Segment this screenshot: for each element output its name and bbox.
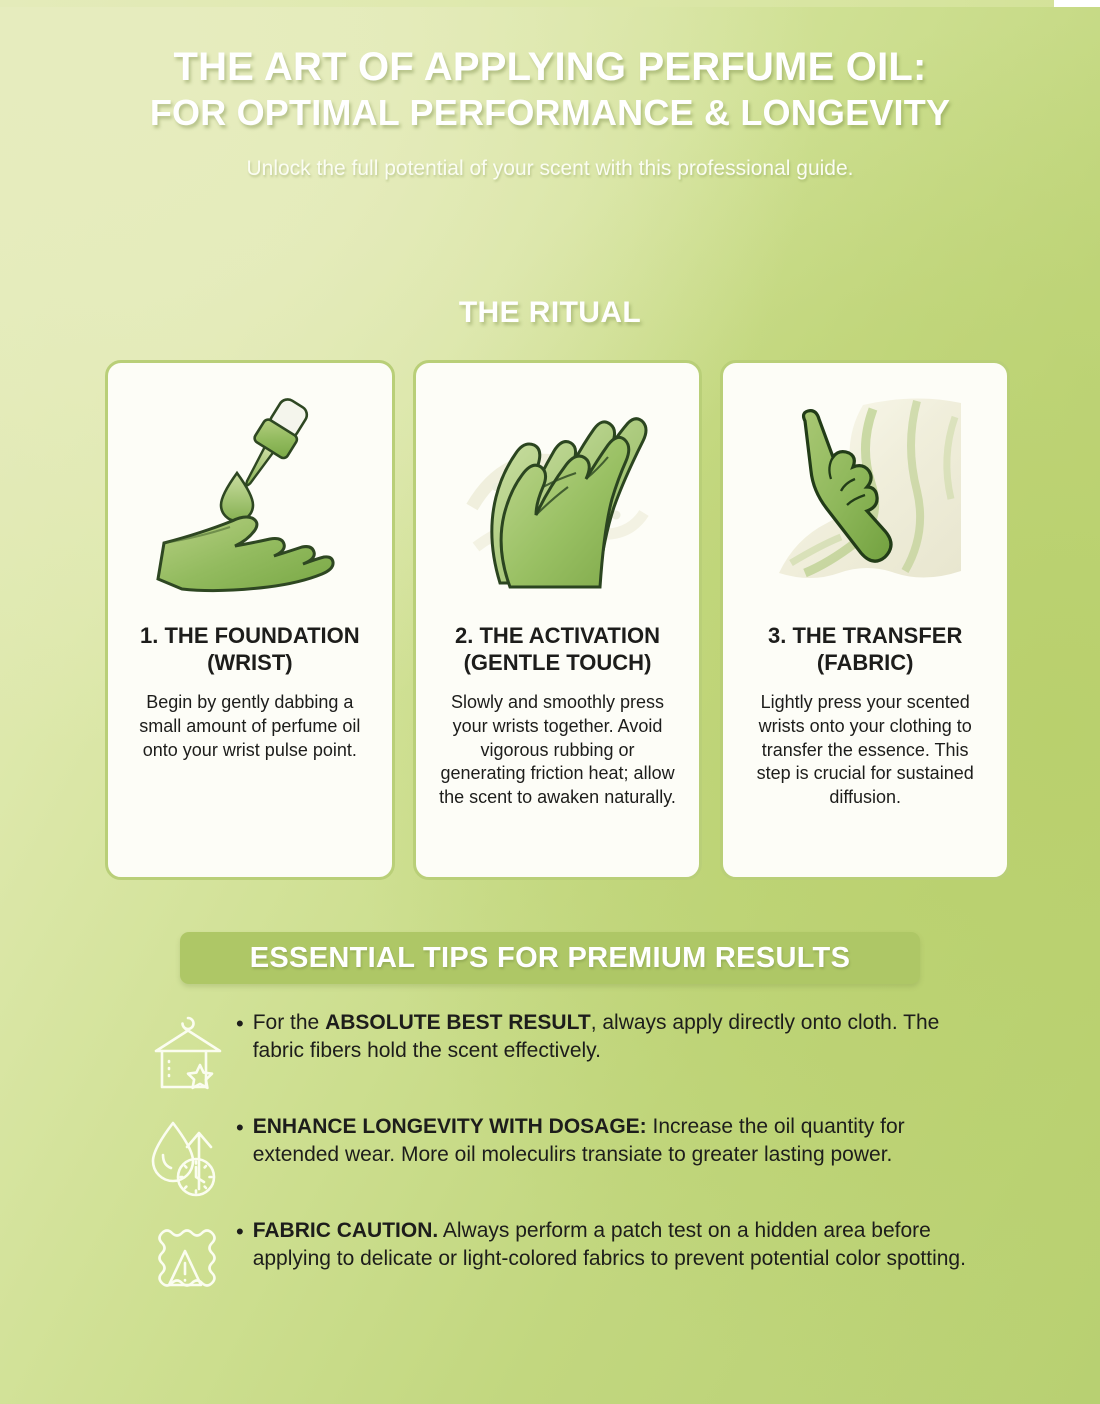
ritual-card-body: Lightly press your scented wrists onto y… [737,691,993,811]
ritual-card-title: 3. THE TRANSFER (FABRIC) [768,623,962,677]
tip-text-wrap: • ENHANCE LONGEVITY WITH DOSAGE: Increas… [236,1109,990,1169]
top-strip-notch [1054,0,1100,7]
page-subtitle: Unlock the full potential of your scent … [0,157,1100,181]
ritual-card-body: Begin by gently dabbing a small amount o… [122,691,378,763]
tips-banner: ESSENTIAL TIPS FOR PREMIUM RESULTS [180,932,920,984]
tip-item: • FABRIC CAUTION. Always perform a patch… [140,1213,990,1317]
infographic-page: THE ART OF APPLYING PERFUME OIL: FOR OPT… [0,0,1100,1404]
tip-text-wrap: • FABRIC CAUTION. Always perform a patch… [236,1213,990,1273]
tip-text-wrap: • For the ABSOLUTE BEST RESULT, always a… [236,1005,990,1065]
page-title-line1: THE ART OF APPLYING PERFUME OIL: [0,46,1100,88]
pressed-hands-icon [430,377,686,607]
tip-copy: ENHANCE LONGEVITY WITH DOSAGE: Increase … [253,1113,990,1169]
ritual-card-foundation: 1. THE FOUNDATION (WRIST) Begin by gentl… [105,360,395,880]
tip-bullet: • [236,1217,244,1246]
tip-strong: FABRIC CAUTION. [253,1219,439,1242]
tip-item: • For the ABSOLUTE BEST RESULT, always a… [140,1005,990,1109]
ritual-card-title: 1. THE FOUNDATION (WRIST) [140,623,360,677]
ritual-card-activation: 2. THE ACTIVATION (GENTLE TOUCH) Slowly … [413,360,703,880]
droplet-arrow-clock-icon [140,1109,236,1199]
top-strip [0,0,1100,7]
tip-lead: For the [253,1011,325,1034]
fabric-warning-icon [140,1213,236,1303]
ritual-section-heading: THE RITUAL [0,296,1100,330]
hand-fabric-icon [737,377,993,607]
ritual-card-transfer: 3. THE TRANSFER (FABRIC) Lightly press y… [720,360,1010,880]
tip-copy: FABRIC CAUTION. Always perform a patch t… [253,1217,990,1273]
tip-strong: ABSOLUTE BEST RESULT [325,1011,591,1034]
ritual-card-title: 2. THE ACTIVATION (GENTLE TOUCH) [455,623,660,677]
tip-copy: For the ABSOLUTE BEST RESULT, always app… [253,1009,990,1065]
tip-bullet: • [236,1009,244,1038]
header: THE ART OF APPLYING PERFUME OIL: FOR OPT… [0,46,1100,181]
page-title-line2: FOR OPTIMAL PERFORMANCE & LONGEVITY [0,94,1100,132]
tip-bullet: • [236,1113,244,1142]
ritual-card-list: 1. THE FOUNDATION (WRIST) Begin by gentl… [105,360,1010,880]
hanger-cloth-star-icon [140,1005,236,1095]
tips-list: • For the ABSOLUTE BEST RESULT, always a… [140,1005,990,1317]
dropper-hand-icon [122,377,378,607]
tips-banner-label: ESSENTIAL TIPS FOR PREMIUM RESULTS [250,942,850,975]
tip-item: • ENHANCE LONGEVITY WITH DOSAGE: Increas… [140,1109,990,1213]
tip-strong: ENHANCE LONGEVITY WITH DOSAGE: [253,1115,647,1138]
ritual-card-body: Slowly and smoothly press your wrists to… [430,691,686,811]
